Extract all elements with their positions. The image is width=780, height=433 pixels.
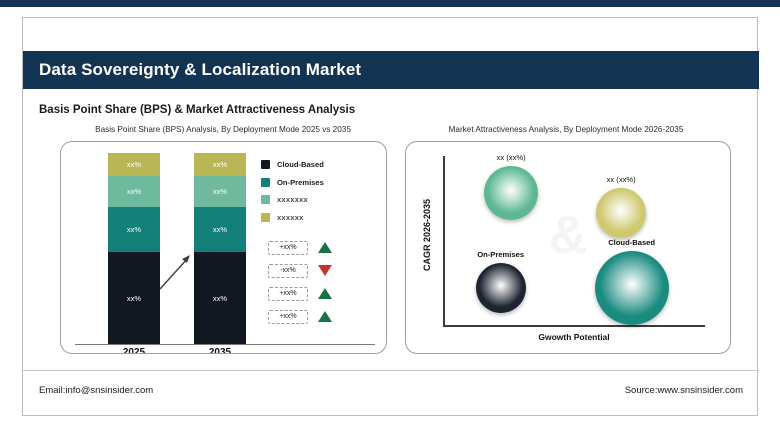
left-chart-caption: Basis Point Share (BPS) Analysis, By Dep… [53, 125, 393, 134]
delta-row: +xx% [268, 240, 332, 255]
legend-item[interactable]: xxxxxx [261, 213, 324, 222]
bubble[interactable] [476, 263, 526, 313]
bubble[interactable] [596, 188, 646, 238]
bubble-label: Cloud-Based [572, 238, 692, 247]
infographic-page: Data Sovereignty & Localization Market B… [0, 0, 780, 433]
bar-segment: xx% [108, 207, 160, 253]
delta-chip-list: +xx%-xx%+xx%+xx% [268, 240, 332, 332]
legend-swatch-icon [261, 195, 270, 204]
title-bar: Data Sovereignty & Localization Market [23, 51, 759, 89]
legend-label: xxxxxx [277, 213, 304, 222]
bubble[interactable] [595, 251, 669, 325]
legend-swatch-icon [261, 160, 270, 169]
bar-segment: xx% [194, 153, 246, 176]
bps-chart-panel: & INSIDER xx%xx%xx%xx% xx%xx%xx%xx% 2025… [60, 141, 387, 354]
stacked-bar-plot: xx%xx%xx%xx% xx%xx%xx%xx% 2025 2035 Clou… [61, 142, 387, 354]
delta-chip: -xx% [268, 264, 308, 278]
top-accent-strip [0, 0, 780, 7]
arrow-down-icon [318, 265, 332, 276]
legend-label: Cloud-Based [277, 160, 324, 169]
bar-segment: xx% [194, 176, 246, 207]
legend-label: xxxxxxx [277, 195, 308, 204]
bubble-label: On-Premises [441, 250, 561, 259]
bar-segment: xx% [108, 252, 160, 344]
bar-2025: xx%xx%xx%xx% [108, 153, 160, 344]
x-axis-label: Gwowth Potential [443, 332, 705, 342]
bubble-label: xx (xx%) [451, 153, 571, 162]
y-axis-line [443, 156, 445, 326]
legend-label: On-Premises [277, 178, 324, 187]
right-chart-caption: Market Attractiveness Analysis, By Deplo… [401, 125, 731, 134]
bar-segment: xx% [108, 153, 160, 176]
growth-arrow-icon [157, 252, 193, 292]
arrow-up-icon [318, 288, 332, 299]
bar-segment: xx% [108, 176, 160, 207]
legend-swatch-icon [261, 178, 270, 187]
footer-email: Email:info@snsinsider.com [39, 385, 153, 396]
y-axis-label: CAGR 2026-2035 [422, 165, 432, 305]
bar-segment: xx% [194, 207, 246, 253]
delta-row: +xx% [268, 309, 332, 324]
x-axis-line [443, 325, 705, 327]
arrow-up-icon [318, 242, 332, 253]
report-card: Data Sovereignty & Localization Market B… [22, 17, 758, 416]
legend: Cloud-BasedOn-Premisesxxxxxxxxxxxxx [261, 160, 324, 230]
delta-row: +xx% [268, 286, 332, 301]
x-label-2035: 2035 [175, 347, 265, 354]
footer: Email:info@snsinsider.com Source:www.sns… [23, 370, 759, 416]
page-subtitle: Basis Point Share (BPS) & Market Attract… [39, 104, 679, 116]
footer-source: Source:www.snsinsider.com [625, 385, 743, 396]
x-label-2025: 2025 [89, 347, 179, 354]
delta-row: -xx% [268, 263, 332, 278]
bubble-plot: CAGR 2026-2035 Gwowth Potential xx (xx%)… [406, 142, 730, 353]
delta-chip: +xx% [268, 241, 308, 255]
baseline-axis [75, 344, 375, 345]
legend-item[interactable]: On-Premises [261, 178, 324, 187]
legend-swatch-icon [261, 213, 270, 222]
attractiveness-chart-panel: & INSIDER CAGR 2026-2035 Gwowth Potentia… [405, 141, 731, 354]
bar-2035: xx%xx%xx%xx% [194, 153, 246, 344]
bubble-label: xx (xx%) [561, 175, 681, 184]
bar-segment: xx% [194, 252, 246, 344]
legend-item[interactable]: Cloud-Based [261, 160, 324, 169]
delta-chip: +xx% [268, 287, 308, 301]
arrow-up-icon [318, 311, 332, 322]
bubble[interactable] [484, 166, 538, 220]
delta-chip: +xx% [268, 310, 308, 324]
page-title: Data Sovereignty & Localization Market [23, 60, 361, 80]
legend-item[interactable]: xxxxxxx [261, 195, 324, 204]
